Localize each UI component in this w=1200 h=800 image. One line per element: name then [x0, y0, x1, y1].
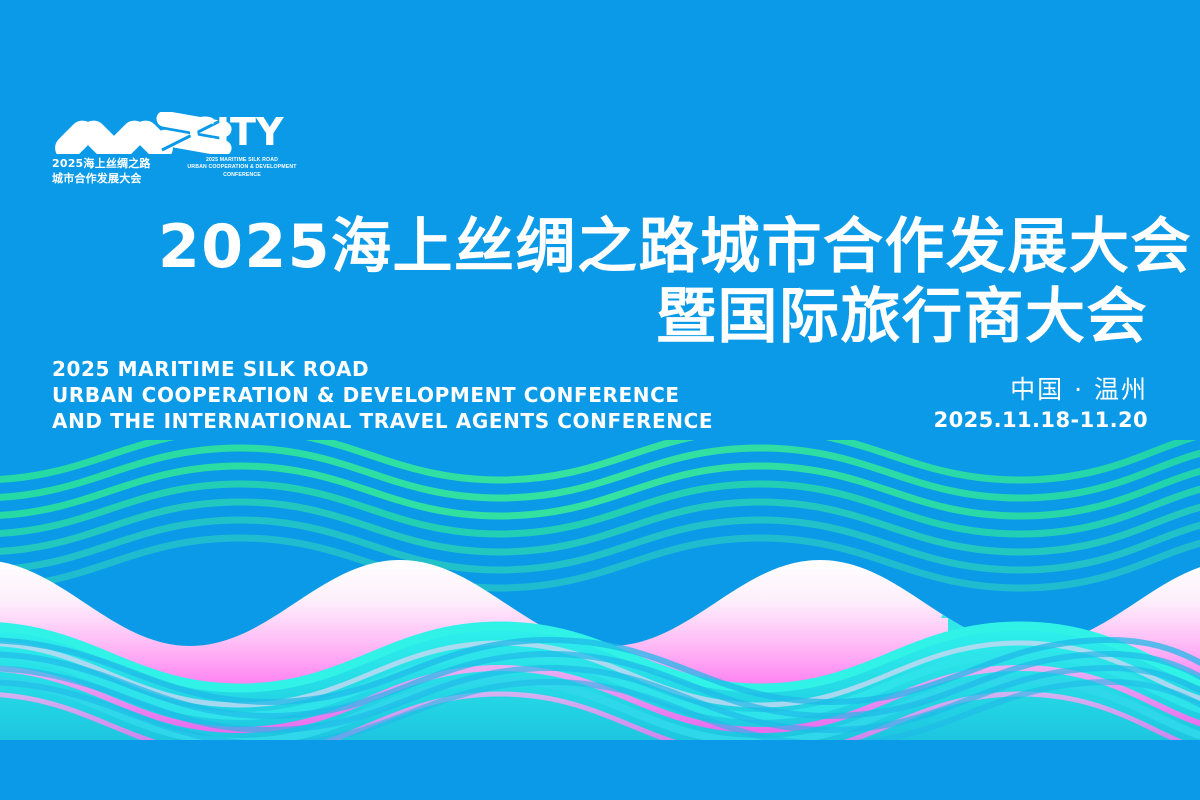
logo-subtext-en: 2025 MARITIME SILK ROAD URBAN COOPERATIO… — [174, 157, 310, 179]
event-meta: 中国 · 温州 2025.11.18-11.20 — [934, 374, 1148, 434]
event-location: 中国 · 温州 — [934, 374, 1148, 406]
title-line-1: 2025海上丝绸之路城市合作发展大会 — [158, 212, 1148, 282]
event-date: 2025.11.18-11.20 — [934, 406, 1148, 434]
logo-subtext-cn-line1: 2025海上丝绸之路 — [52, 156, 148, 171]
logo-subtext-cn-line2: 城市合作发展大会 — [52, 171, 148, 186]
logo-subtext: 2025海上丝绸之路 城市合作发展大会 2025 MARITIME SILK R… — [52, 156, 312, 190]
subtitle-line-2: URBAN COOPERATION & DEVELOPMENT CONFEREN… — [52, 382, 752, 408]
wave-artwork — [0, 440, 1200, 740]
logo-subtext-en-line2: URBAN COOPERATION & DEVELOPMENT — [174, 164, 310, 171]
subtitle-line-3: AND THE INTERNATIONAL TRAVEL AGENTS CONF… — [52, 408, 752, 434]
title-line-2: 暨国际旅行商大会 — [158, 282, 1148, 352]
logo-subtext-en-line3: CONFERENCE — [174, 172, 310, 179]
subtitle-line-1: 2025 MARITIME SILK ROAD — [52, 356, 752, 382]
conference-poster: CITY 2025海上丝绸之路 城市合作发展大会 2025 MARITIME S… — [0, 0, 1200, 800]
page-title: 2025海上丝绸之路城市合作发展大会 暨国际旅行商大会 — [158, 212, 1148, 352]
logo-subtext-cn: 2025海上丝绸之路 城市合作发展大会 — [52, 156, 148, 186]
green-wave-lines — [0, 440, 1200, 588]
logo-block: CITY 2025海上丝绸之路 城市合作发展大会 2025 MARITIME S… — [52, 112, 312, 190]
logo-subtext-en-line1: 2025 MARITIME SILK ROAD — [174, 157, 310, 164]
subtitle-block: 2025 MARITIME SILK ROAD URBAN COOPERATIO… — [52, 356, 752, 434]
logo-wordmark: CITY — [188, 110, 283, 154]
